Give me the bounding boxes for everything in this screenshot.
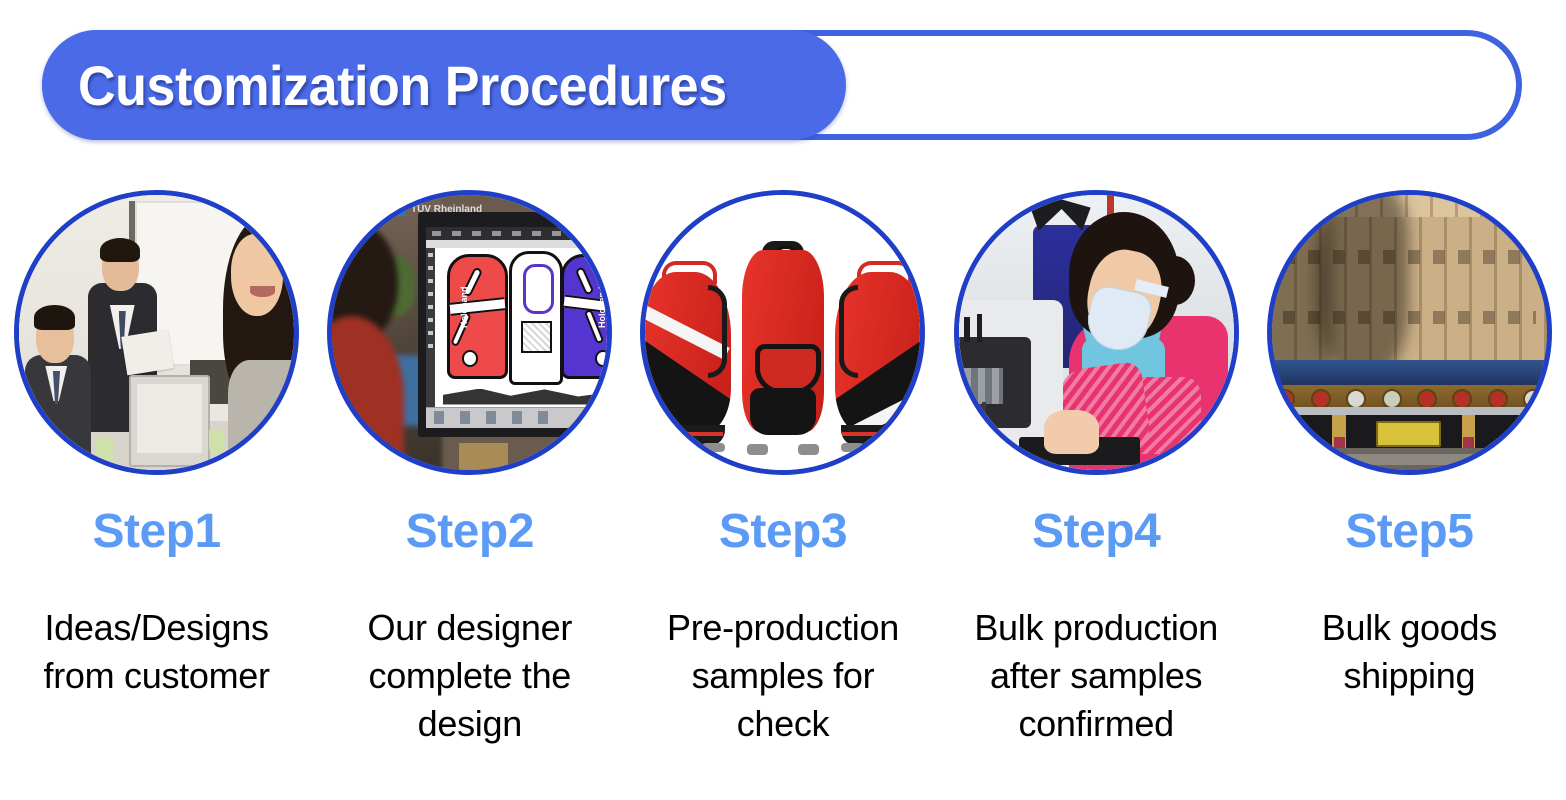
step-label-4: Step4 [1032,508,1160,556]
cad-bag-blue: Holdhand [561,254,613,378]
step-image-5 [1267,190,1552,475]
golf-bag-right [835,272,925,432]
step-image-1 [14,190,299,475]
header-banner: Customization Procedures [42,30,1522,140]
step-caption-2: Our designer complete the design [368,604,573,748]
step-image-3 [640,190,925,475]
cad-bag-red-logo: Holdhand [459,296,468,328]
page-title: Customization Procedures [78,30,727,140]
golf-bag-samples-photo [645,195,920,470]
step-label-1: Step1 [92,508,220,556]
cad-bag-red: Holdhand [447,254,508,378]
step-caption-4: Bulk production after samples confirmed [974,604,1218,748]
tuv-watermark: .com TÜV Rheinland [365,198,541,223]
banner-blue-fill: Customization Procedures [42,30,846,140]
golf-bag-left [640,272,730,432]
tuv-triangle-icon [393,203,407,217]
step-item-3: Step3 Pre-production samples for check [626,190,939,748]
step-item-2: Holdhand Holdhand [313,190,626,748]
step-caption-1: Ideas/Designs from customer [44,604,270,700]
step-caption-5: Bulk goods shipping [1322,604,1497,700]
step-item-1: Step1 Ideas/Designs from customer [0,190,313,748]
step-item-4: Step4 Bulk production after samples conf… [940,190,1253,748]
watermark-com-text: .com [365,204,389,216]
step-caption-3: Pre-production samples for check [667,604,899,748]
cad-bag-blue-logo: Holdhand [597,296,606,328]
step-label-2: Step2 [406,508,534,556]
sewing-worker-photo [959,195,1234,470]
step-item-5: Step5 Bulk goods shipping [1253,190,1566,748]
designer-at-monitor-photo: Holdhand Holdhand [332,195,607,470]
golf-bag-middle [742,250,825,432]
loaded-truck-photo [1272,195,1547,470]
step-image-4 [954,190,1239,475]
step-image-2: Holdhand Holdhand [327,190,612,475]
watermark-brand-text: TÜV Rheinland [411,205,482,215]
step-label-5: Step5 [1345,508,1473,556]
business-meeting-photo [19,195,294,470]
steps-row: Step1 Ideas/Designs from customer [0,190,1566,748]
step-label-3: Step3 [719,508,847,556]
